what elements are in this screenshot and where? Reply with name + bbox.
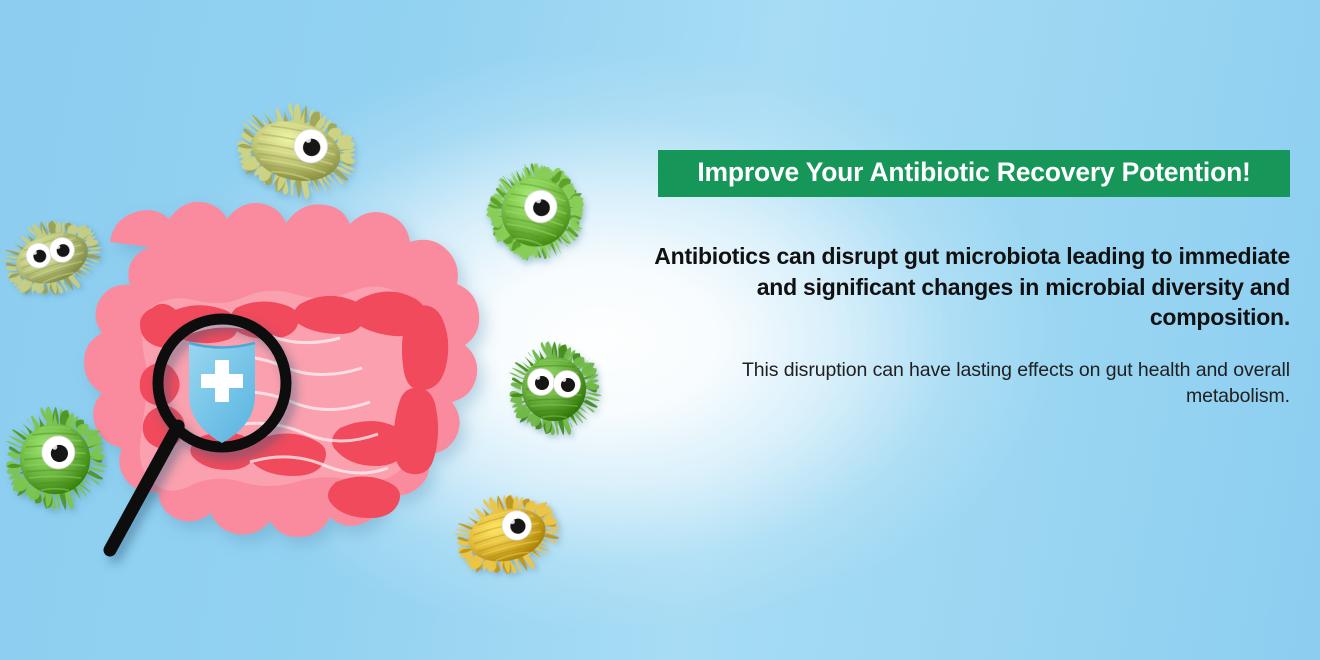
- germ-olive-one-eye-top: [230, 95, 362, 207]
- subtext-paragraph: This disruption can have lasting effects…: [600, 357, 1290, 410]
- germ-body: [5, 406, 108, 510]
- germ-body: [477, 153, 596, 272]
- headline-text: Improve Your Antibiotic Recovery Potenti…: [697, 157, 1250, 187]
- germ-googly-eyes: [42, 436, 75, 469]
- germ-green-one-eye-upper: [482, 146, 590, 278]
- shield-plus-horizontal: [201, 374, 243, 388]
- germ-body: [509, 341, 602, 436]
- germ-green-two-eye-mid: [504, 332, 604, 446]
- germ-body: [228, 93, 367, 209]
- infographic-canvas: Improve Your Antibiotic Recovery Potenti…: [0, 0, 1320, 660]
- germ-green-one-eye-left: [0, 398, 110, 520]
- germ-olive-two-eye-left: [6, 192, 98, 324]
- headline-banner: Improve Your Antibiotic Recovery Potenti…: [658, 150, 1290, 197]
- germ-gold-one-eye-bottom: [444, 486, 570, 584]
- germ-body: [0, 206, 113, 309]
- text-column: Improve Your Antibiotic Recovery Potenti…: [600, 150, 1290, 409]
- germ-body: [447, 482, 570, 587]
- lede-paragraph: Antibiotics can disrupt gut microbiota l…: [600, 241, 1290, 333]
